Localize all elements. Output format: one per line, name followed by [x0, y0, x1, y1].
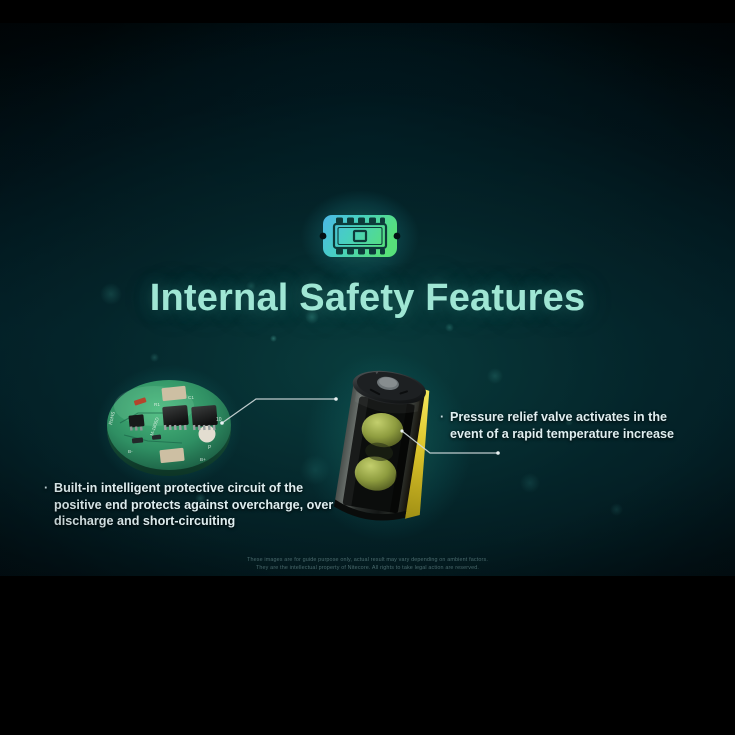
callout-pressure-relief-valve: · Pressure relief valve activates in the… [440, 409, 700, 442]
page-title: Internal Safety Features [0, 277, 735, 320]
callout-text: Pressure relief valve activates in the e… [440, 409, 700, 442]
svg-text:B-: B- [128, 449, 133, 454]
bokeh-particle [445, 323, 454, 332]
disclaimer-line-2: They are the intellectual property of Ni… [0, 565, 735, 573]
bokeh-particle [610, 503, 623, 516]
svg-text:R1: R1 [154, 402, 160, 407]
bokeh-particle [270, 335, 277, 342]
callout-bullet: · [44, 480, 48, 497]
callout-protective-circuit: · Built-in intelligent protective circui… [44, 480, 354, 530]
chip-icon-container [318, 211, 402, 261]
bokeh-particle [150, 353, 159, 362]
protection-circuit-board: RoHS M-1805D 10 P B+ B- C1 R1 [104, 373, 234, 479]
disclaimer: These images are for guide purpose only,… [0, 557, 735, 572]
bokeh-particle [487, 368, 503, 384]
callout-bullet: · [440, 409, 444, 426]
bokeh-particle [520, 473, 540, 493]
svg-text:10: 10 [216, 417, 222, 423]
screenshot-root: Internal Safety Features [0, 0, 735, 735]
callout-text: Built-in intelligent protective circuit … [44, 480, 354, 530]
disclaimer-line-1: These images are for guide purpose only,… [0, 557, 735, 565]
chip-icon [318, 211, 402, 261]
pcb-container: RoHS M-1805D 10 P B+ B- C1 R1 [104, 373, 234, 479]
svg-text:C1: C1 [188, 395, 194, 400]
svg-text:B+: B+ [200, 457, 206, 462]
feature-panel: Internal Safety Features [0, 23, 735, 576]
